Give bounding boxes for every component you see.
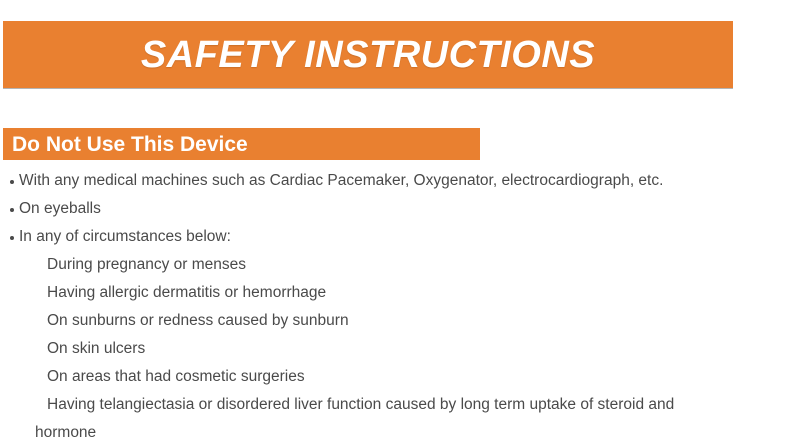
safety-content: With any medical machines such as Cardia… <box>0 167 799 447</box>
sub-list-item-label: Having allergic dermatitis or hemorrhage <box>47 285 326 301</box>
bullet-dot-icon <box>10 208 14 212</box>
sub-list-item: During pregnancy or menses <box>0 251 799 279</box>
sub-list-item-label: During pregnancy or menses <box>47 257 246 273</box>
list-item: On eyeballs <box>0 195 799 223</box>
bullet-dot-icon <box>10 180 14 184</box>
page-title: SAFETY INSTRUCTIONS <box>141 36 595 74</box>
sub-list-item-label: On areas that had cosmetic surgeries <box>47 369 305 385</box>
safety-instructions-banner: SAFETY INSTRUCTIONS <box>3 21 733 88</box>
sub-list-item: On skin ulcers <box>0 335 799 363</box>
list-item-label: With any medical machines such as Cardia… <box>19 173 663 189</box>
section-heading-bar: Do Not Use This Device <box>3 128 480 160</box>
list-item: With any medical machines such as Cardia… <box>0 167 799 195</box>
sub-list-item: On sunburns or redness caused by sunburn <box>0 307 799 335</box>
sub-list-item: On areas that had cosmetic surgeries <box>0 363 799 391</box>
list-item-label: In any of circumstances below: <box>19 229 231 245</box>
sub-list-item-label: On sunburns or redness caused by sunburn <box>47 313 349 329</box>
sub-list-item: Having allergic dermatitis or hemorrhage <box>0 279 799 307</box>
sub-list-item-label: On skin ulcers <box>47 341 145 357</box>
list-item-label: On eyeballs <box>19 201 101 217</box>
sub-list-item-wrapped: Having telangiectasia or disordered live… <box>0 391 799 447</box>
section-heading-label: Do Not Use This Device <box>3 134 248 155</box>
bullet-dot-icon <box>10 236 14 240</box>
list-item: In any of circumstances below: <box>0 223 799 251</box>
